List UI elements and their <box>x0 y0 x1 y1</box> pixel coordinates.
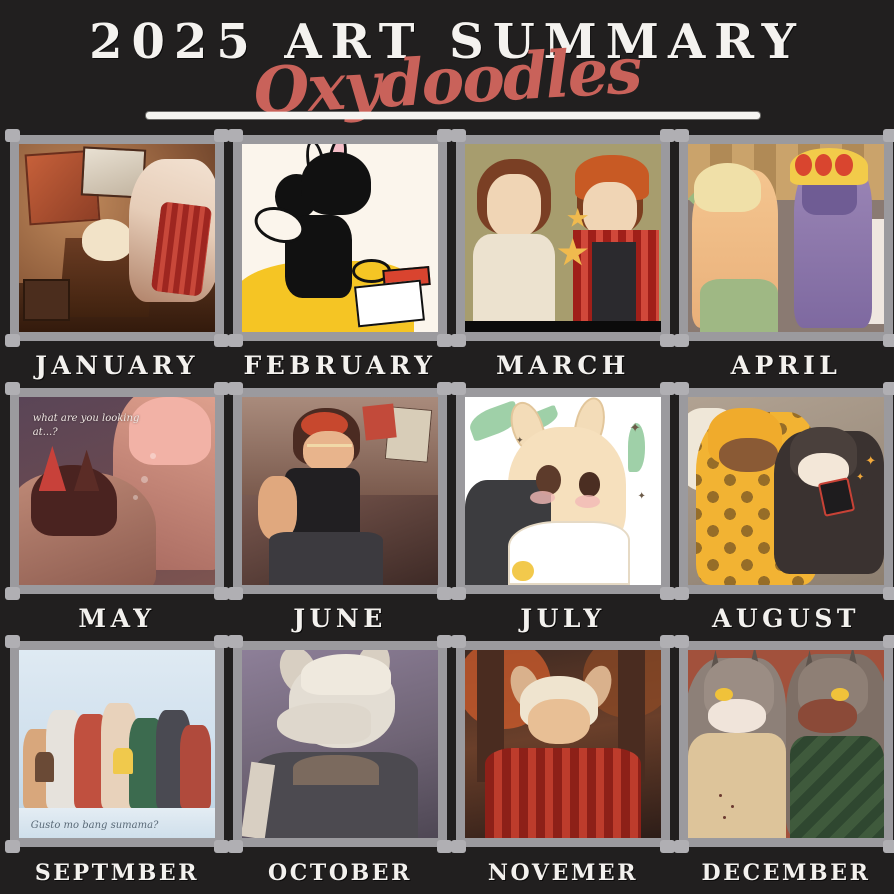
month-label-october: OCTOBER <box>229 860 451 886</box>
frame-nub-icon <box>5 129 20 142</box>
month-label-february: FEBRUARY <box>229 351 451 380</box>
art-summary-page: 2025 ART SUMMARY Oxydoodles <box>0 0 894 894</box>
frame-nub-icon <box>883 587 894 600</box>
frame-nub-icon <box>437 635 452 648</box>
month-label-september: SEPTMBER <box>6 860 228 886</box>
frame-nub-icon <box>883 129 894 142</box>
artwork-frame: what are you looking at...? <box>10 388 224 594</box>
frame-nub-icon <box>214 129 229 142</box>
frame-nub-icon <box>883 635 894 648</box>
month-cell-october[interactable]: OCTOBER <box>229 638 451 892</box>
frame-nub-icon <box>660 635 675 648</box>
artwork-october <box>242 650 438 838</box>
frame-nub-icon <box>451 382 466 395</box>
artwork-december <box>688 650 884 838</box>
frame-nub-icon <box>660 587 675 600</box>
month-label-november: NOVEMER <box>452 860 674 886</box>
artwork-frame <box>10 135 224 341</box>
frame-nub-icon <box>5 382 20 395</box>
artwork-frame <box>456 135 670 341</box>
frame-nub-icon <box>674 635 689 648</box>
frame-nub-icon <box>437 587 452 600</box>
frame-nub-icon <box>674 334 689 347</box>
artwork-frame <box>233 388 447 594</box>
artwork-february <box>242 144 438 332</box>
month-label-may: MAY <box>6 604 228 633</box>
artwork-frame: ✦ ✦ ✦ <box>456 388 670 594</box>
artwork-august: ✦ ✦ <box>688 397 884 585</box>
artwork-march <box>465 144 661 332</box>
frame-nub-icon <box>451 334 466 347</box>
frame-nub-icon <box>451 840 466 853</box>
artwork-april <box>688 144 884 332</box>
frame-nub-icon <box>214 635 229 648</box>
artwork-frame <box>456 641 670 847</box>
frame-nub-icon <box>5 334 20 347</box>
artwork-july: ✦ ✦ ✦ <box>465 397 661 585</box>
month-cell-december[interactable]: DECEMBER <box>675 638 894 892</box>
month-label-march: MARCH <box>452 351 674 380</box>
frame-nub-icon <box>451 587 466 600</box>
frame-nub-icon <box>5 587 20 600</box>
month-cell-november[interactable]: NOVEMER <box>452 638 674 892</box>
frame-nub-icon <box>437 840 452 853</box>
month-label-august: AUGUST <box>675 604 894 633</box>
month-cell-august[interactable]: ✦ ✦ AUGUST <box>675 385 894 639</box>
frame-nub-icon <box>228 129 243 142</box>
month-cell-september[interactable]: Gusto mo bang sumama? SEPTMBER <box>6 638 228 892</box>
frame-nub-icon <box>214 334 229 347</box>
frame-nub-icon <box>214 382 229 395</box>
header: 2025 ART SUMMARY Oxydoodles <box>0 0 894 132</box>
artwork-frame: Gusto mo bang sumama? <box>10 641 224 847</box>
month-label-december: DECEMBER <box>675 860 894 886</box>
frame-nub-icon <box>214 840 229 853</box>
frame-nub-icon <box>660 382 675 395</box>
frame-nub-icon <box>228 587 243 600</box>
month-cell-june[interactable]: JUNE <box>229 385 451 639</box>
frame-nub-icon <box>437 334 452 347</box>
artwork-january <box>19 144 215 332</box>
artwork-frame <box>679 135 893 341</box>
artwork-may: what are you looking at...? <box>19 397 215 585</box>
artwork-november <box>465 650 661 838</box>
frame-nub-icon <box>660 334 675 347</box>
frame-nub-icon <box>883 840 894 853</box>
month-cell-january[interactable]: JANUARY <box>6 132 228 386</box>
frame-nub-icon <box>674 129 689 142</box>
frame-nub-icon <box>883 382 894 395</box>
frame-nub-icon <box>5 635 20 648</box>
artwork-september: Gusto mo bang sumama? <box>19 650 215 838</box>
month-cell-july[interactable]: ✦ ✦ ✦ JULY <box>452 385 674 639</box>
month-grid: JANUARY <box>0 132 894 894</box>
frame-nub-icon <box>451 635 466 648</box>
frame-nub-icon <box>228 382 243 395</box>
month-label-july: JULY <box>452 604 674 633</box>
frame-nub-icon <box>228 635 243 648</box>
artwork-frame <box>679 641 893 847</box>
frame-nub-icon <box>228 840 243 853</box>
artwork-frame <box>233 641 447 847</box>
signature-underline <box>146 112 760 119</box>
month-cell-february[interactable]: FEBRUARY <box>229 132 451 386</box>
frame-nub-icon <box>451 129 466 142</box>
artwork-june <box>242 397 438 585</box>
frame-nub-icon <box>228 334 243 347</box>
month-label-april: APRIL <box>675 351 894 380</box>
month-cell-march[interactable]: MARCH <box>452 132 674 386</box>
month-cell-may[interactable]: what are you looking at...? MAY <box>6 385 228 639</box>
artwork-frame <box>233 135 447 341</box>
frame-nub-icon <box>674 382 689 395</box>
frame-nub-icon <box>674 840 689 853</box>
frame-nub-icon <box>5 840 20 853</box>
artwork-frame: ✦ ✦ <box>679 388 893 594</box>
frame-nub-icon <box>883 334 894 347</box>
frame-nub-icon <box>214 587 229 600</box>
month-label-june: JUNE <box>229 604 451 633</box>
frame-nub-icon <box>660 129 675 142</box>
month-cell-april[interactable]: APRIL <box>675 132 894 386</box>
frame-nub-icon <box>437 129 452 142</box>
month-label-january: JANUARY <box>6 351 228 380</box>
frame-nub-icon <box>660 840 675 853</box>
frame-nub-icon <box>437 382 452 395</box>
frame-nub-icon <box>674 587 689 600</box>
